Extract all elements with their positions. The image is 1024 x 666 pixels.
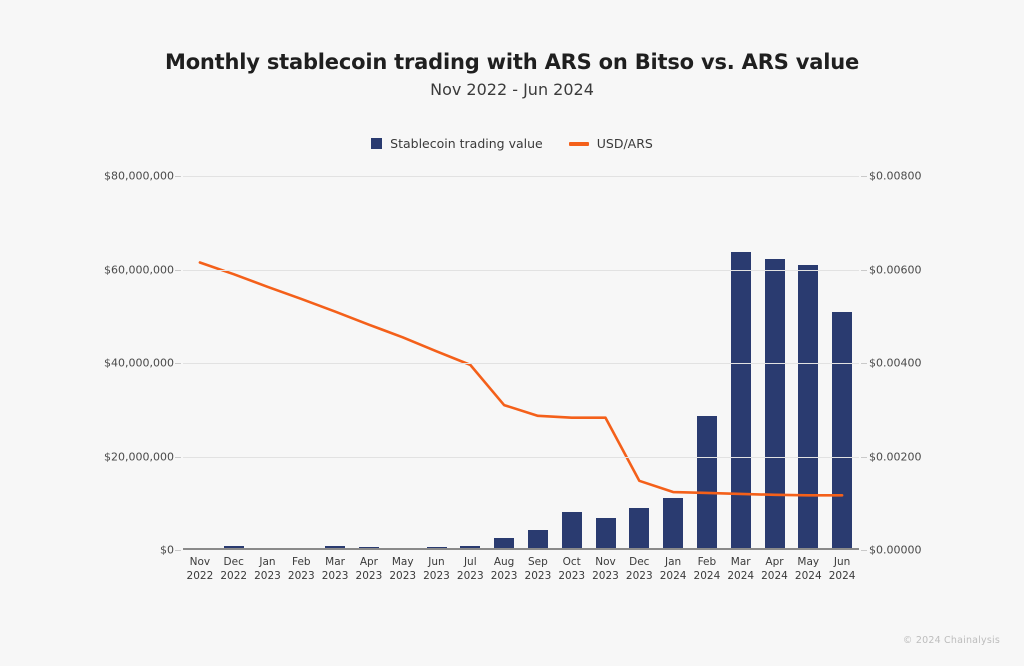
x-label-month: Jul xyxy=(453,556,487,570)
y-axis-right-tick-label: $0.00400 xyxy=(869,357,922,370)
x-label-year: 2024 xyxy=(690,570,724,584)
x-label-month: Aug xyxy=(487,556,521,570)
y-axis-right-tick-label: $0.00000 xyxy=(869,544,922,557)
y-axis-right-tick-mark xyxy=(861,176,867,177)
gridline xyxy=(183,270,859,271)
x-axis-label-1: Nov2022 xyxy=(183,556,217,583)
x-label-year: 2023 xyxy=(521,570,555,584)
y-axis-right-tick-mark xyxy=(861,363,867,364)
x-label-year: 2023 xyxy=(386,570,420,584)
x-label-month: May xyxy=(386,556,420,570)
y-axis-right-tick-mark xyxy=(861,270,867,271)
x-label-year: 2022 xyxy=(217,570,251,584)
x-label-month: Feb xyxy=(284,556,318,570)
legend-line-swatch-icon xyxy=(569,142,589,146)
x-axis-label-2: Dec2022 xyxy=(217,556,251,583)
y-axis-right-tick-mark xyxy=(861,457,867,458)
x-label-month: Jan xyxy=(251,556,285,570)
x-axis-label-6: Apr2023 xyxy=(352,556,386,583)
x-axis-label-15: Jan2024 xyxy=(656,556,690,583)
x-label-year: 2024 xyxy=(791,570,825,584)
legend-item-2[interactable]: USD/ARS xyxy=(569,136,653,151)
x-axis-label-18: Apr2024 xyxy=(758,556,792,583)
x-label-month: May xyxy=(791,556,825,570)
y-axis-left-tick-label: $80,000,000 xyxy=(104,170,174,183)
y-axis-left-tick-mark xyxy=(175,457,181,458)
x-label-month: Jun xyxy=(420,556,454,570)
x-axis-label-14: Dec2023 xyxy=(622,556,656,583)
x-label-year: 2023 xyxy=(420,570,454,584)
legend-bar-swatch-icon xyxy=(371,138,382,149)
x-label-year: 2023 xyxy=(487,570,521,584)
x-axis-label-11: Sep2023 xyxy=(521,556,555,583)
chart-legend: Stablecoin trading valueUSD/ARS xyxy=(0,136,1024,151)
x-axis-labels: Nov2022Dec2022Jan2023Feb2023Mar2023Apr20… xyxy=(183,556,859,600)
x-label-month: Dec xyxy=(217,556,251,570)
plot-area: $0$0.00000$20,000,000$0.00200$40,000,000… xyxy=(183,176,859,550)
x-axis-label-7: May2023 xyxy=(386,556,420,583)
y-axis-left-tick-mark xyxy=(175,550,181,551)
x-axis-line xyxy=(183,548,859,550)
x-label-year: 2024 xyxy=(656,570,690,584)
y-axis-left-tick-label: $0 xyxy=(160,544,174,557)
gridline xyxy=(183,457,859,458)
x-axis-label-10: Aug2023 xyxy=(487,556,521,583)
x-label-month: Oct xyxy=(555,556,589,570)
gridline xyxy=(183,176,859,177)
y-axis-left-tick-mark xyxy=(175,363,181,364)
x-axis-label-13: Nov2023 xyxy=(589,556,623,583)
page-subtitle: Nov 2022 - Jun 2024 xyxy=(0,80,1024,99)
legend-item-1[interactable]: Stablecoin trading value xyxy=(371,136,543,151)
x-label-year: 2024 xyxy=(825,570,859,584)
y-axis-right-tick-label: $0.00200 xyxy=(869,450,922,463)
x-label-year: 2023 xyxy=(251,570,285,584)
x-axis-label-12: Oct2023 xyxy=(555,556,589,583)
x-axis-label-19: May2024 xyxy=(791,556,825,583)
gridline xyxy=(183,363,859,364)
legend-item-label: Stablecoin trading value xyxy=(390,136,543,151)
x-label-month: Apr xyxy=(352,556,386,570)
y-axis-right-tick-label: $0.00600 xyxy=(869,263,922,276)
y-axis-left-tick-label: $60,000,000 xyxy=(104,263,174,276)
page-title: Monthly stablecoin trading with ARS on B… xyxy=(0,50,1024,74)
x-label-year: 2023 xyxy=(352,570,386,584)
x-label-year: 2022 xyxy=(183,570,217,584)
x-label-year: 2024 xyxy=(724,570,758,584)
x-axis-label-8: Jun2023 xyxy=(420,556,454,583)
x-axis-label-4: Feb2023 xyxy=(284,556,318,583)
x-label-month: Nov xyxy=(589,556,623,570)
y-axis-left-tick-mark xyxy=(175,176,181,177)
x-label-year: 2023 xyxy=(555,570,589,584)
x-axis-label-20: Jun2024 xyxy=(825,556,859,583)
x-axis-label-9: Jul2023 xyxy=(453,556,487,583)
copyright-credit: © 2024 Chainalysis xyxy=(903,635,1000,646)
x-label-year: 2023 xyxy=(589,570,623,584)
y-axis-left-tick-mark xyxy=(175,270,181,271)
y-axis-right-tick-label: $0.00800 xyxy=(869,170,922,183)
x-label-month: Feb xyxy=(690,556,724,570)
x-label-month: Sep xyxy=(521,556,555,570)
y-axis-right-tick-mark xyxy=(861,550,867,551)
x-label-year: 2024 xyxy=(758,570,792,584)
x-label-month: Mar xyxy=(724,556,758,570)
x-label-month: Nov xyxy=(183,556,217,570)
x-label-year: 2023 xyxy=(622,570,656,584)
chart-page: Monthly stablecoin trading with ARS on B… xyxy=(0,0,1024,666)
x-label-year: 2023 xyxy=(284,570,318,584)
x-label-year: 2023 xyxy=(453,570,487,584)
legend-item-label: USD/ARS xyxy=(597,136,653,151)
usd-ars-line[interactable] xyxy=(200,262,842,495)
y-axis-left-tick-label: $20,000,000 xyxy=(104,450,174,463)
x-label-month: Dec xyxy=(622,556,656,570)
x-axis-label-16: Feb2024 xyxy=(690,556,724,583)
x-label-month: Jan xyxy=(656,556,690,570)
x-label-month: Apr xyxy=(758,556,792,570)
x-axis-label-3: Jan2023 xyxy=(251,556,285,583)
y-axis-left-tick-label: $40,000,000 xyxy=(104,357,174,370)
x-label-month: Mar xyxy=(318,556,352,570)
x-axis-label-5: Mar2023 xyxy=(318,556,352,583)
x-label-month: Jun xyxy=(825,556,859,570)
x-label-year: 2023 xyxy=(318,570,352,584)
x-axis-label-17: Mar2024 xyxy=(724,556,758,583)
